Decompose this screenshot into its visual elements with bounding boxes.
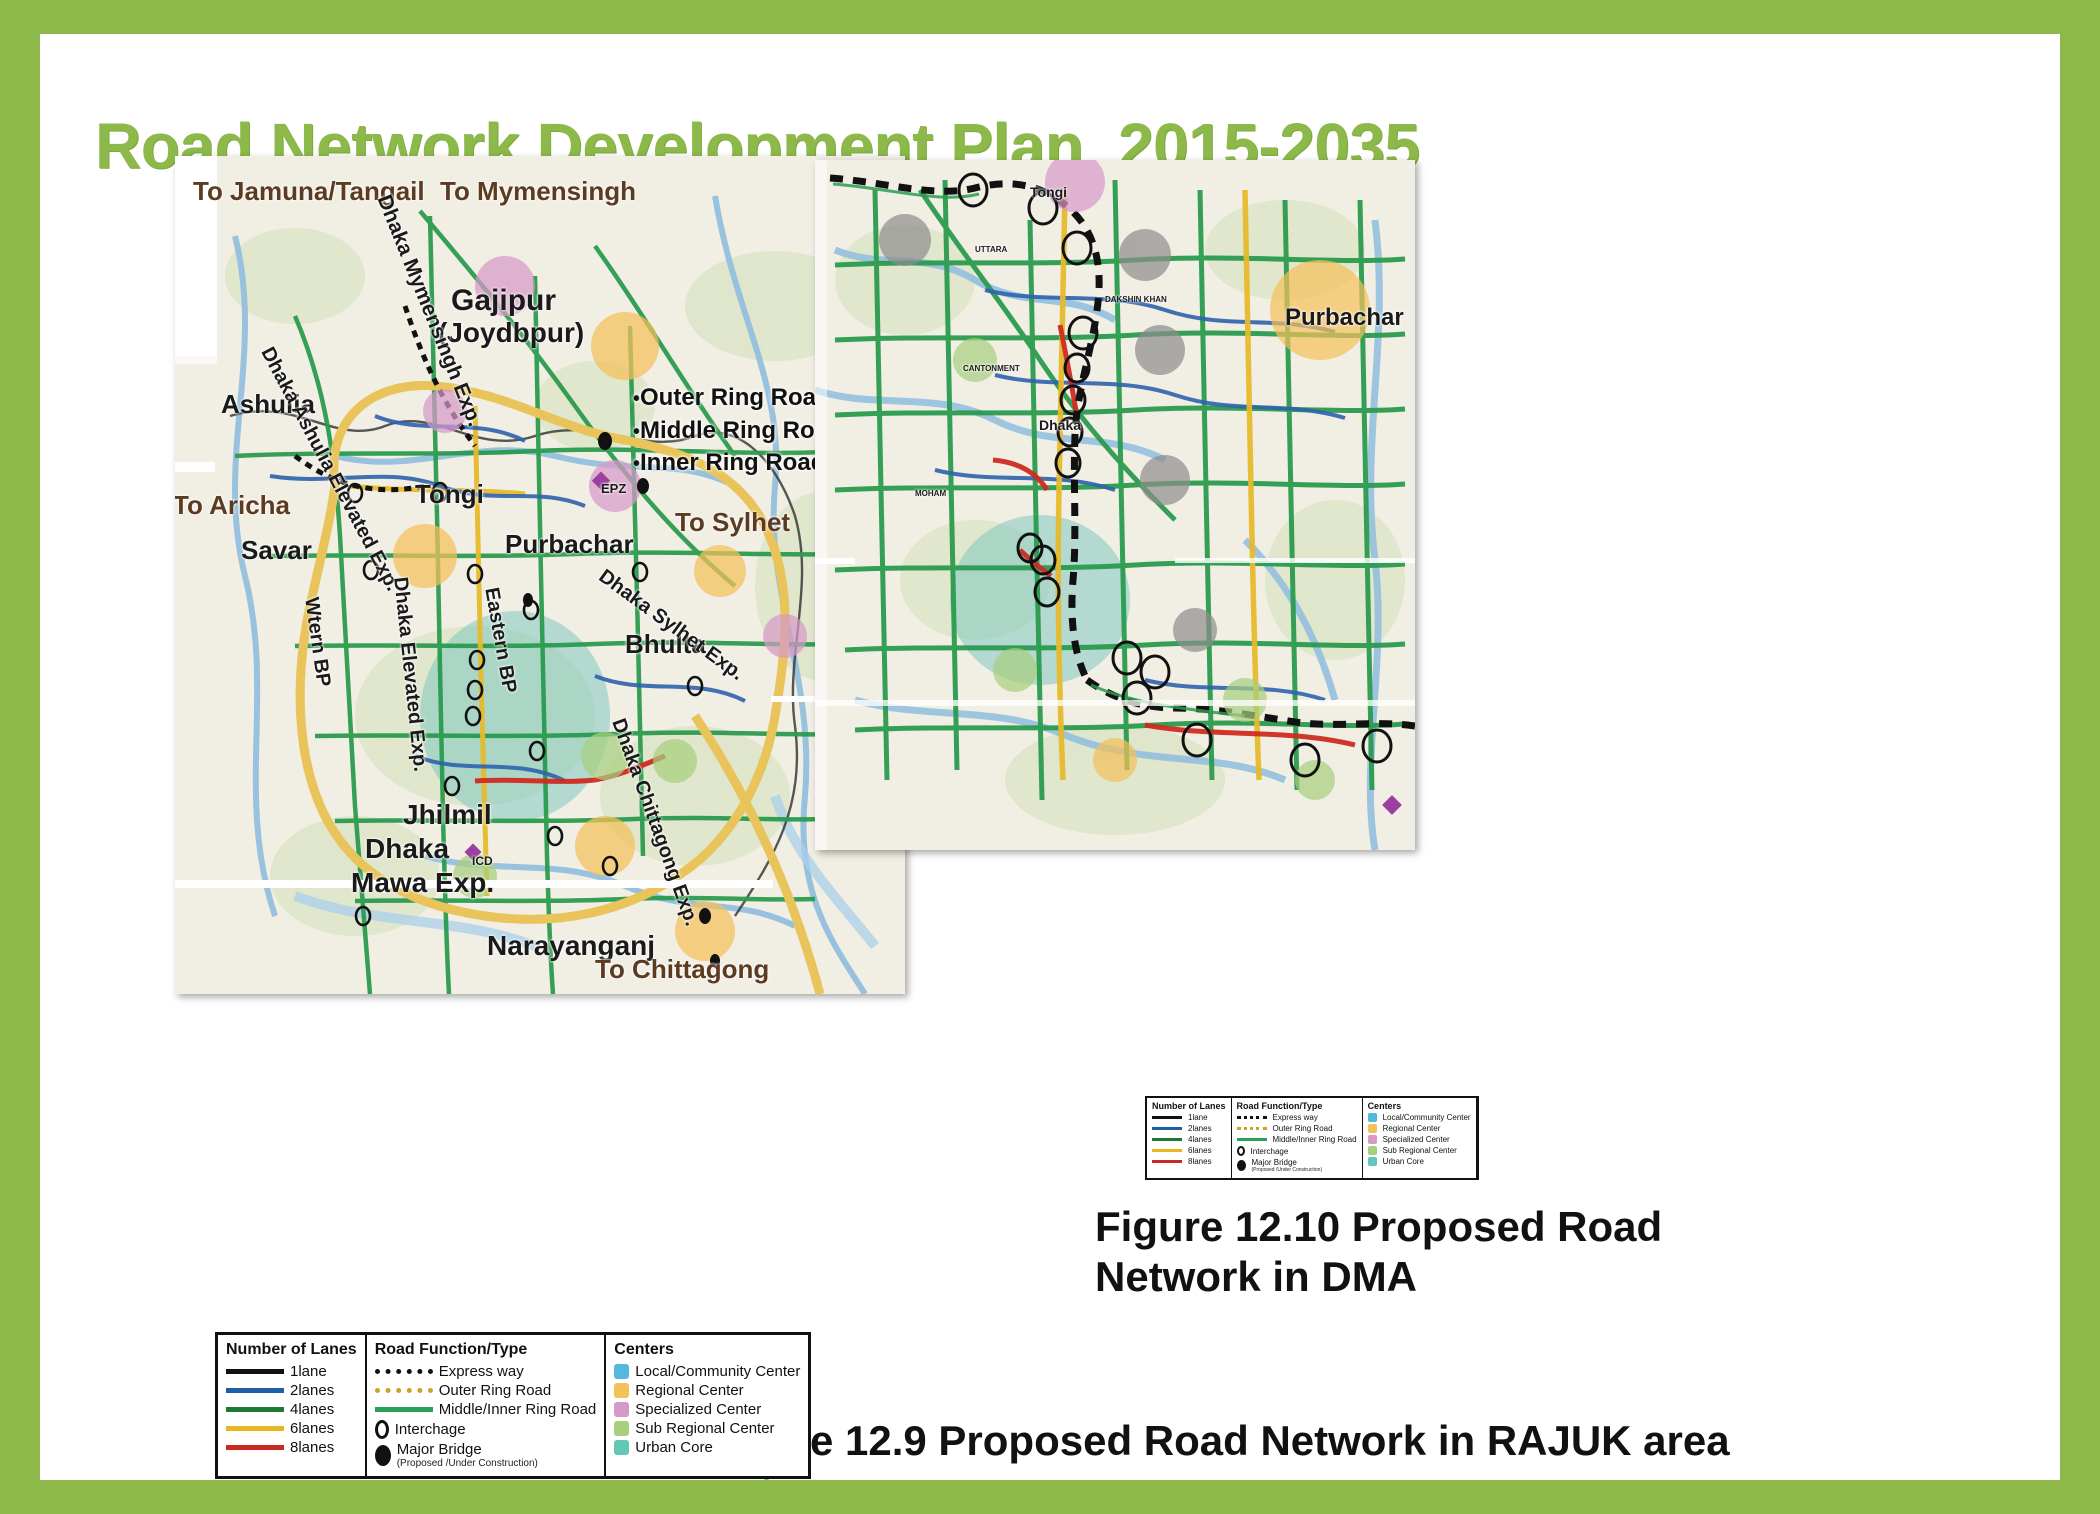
- legend-item: 4lanes: [1152, 1135, 1226, 1144]
- legend-item: 4lanes: [226, 1401, 357, 1418]
- legend-item-label: Major Bridge(Proposed /Under Constructio…: [1252, 1158, 1323, 1173]
- legend-item: 8lanes: [226, 1439, 357, 1456]
- legend-rajuk: Number of Lanes1lane2lanes4lanes6lanes8l…: [215, 1332, 811, 1479]
- legend-item: Interchage: [1237, 1146, 1357, 1156]
- interchange-icon: [375, 1420, 389, 1439]
- legend-line-swatch: [375, 1407, 433, 1412]
- legend-column-title: Road Function/Type: [1237, 1101, 1357, 1111]
- legend-line-swatch: [1152, 1127, 1182, 1130]
- legend-item: Sub Regional Center: [614, 1420, 800, 1437]
- legend-item: Regional Center: [614, 1382, 800, 1399]
- legend-color-box: [614, 1421, 629, 1436]
- legend-line-swatch: [1152, 1160, 1182, 1163]
- legend-item-label: Regional Center: [1383, 1124, 1441, 1133]
- major-bridge-icon: [375, 1445, 391, 1466]
- legend-item: 1lane: [1152, 1113, 1226, 1122]
- interchange-icon: [1237, 1146, 1245, 1156]
- scan-band: [815, 160, 827, 850]
- legend-item-label: Outer Ring Road: [439, 1382, 552, 1399]
- legend-item: 2lanes: [1152, 1124, 1226, 1133]
- legend-item: Urban Core: [614, 1439, 800, 1456]
- scan-band: [175, 356, 217, 364]
- legend-color-box: [614, 1402, 629, 1417]
- legend-item-label: 4lanes: [290, 1401, 334, 1418]
- legend-item: Middle/Inner Ring Road: [375, 1401, 597, 1418]
- legend-line-swatch: [1152, 1138, 1182, 1141]
- legend-item: Express way: [1237, 1113, 1357, 1122]
- legend-item: Interchage: [375, 1420, 597, 1439]
- legend-item: 8lanes: [1152, 1157, 1226, 1166]
- legend-item-label: 1lane: [290, 1363, 327, 1380]
- legend-line-swatch: [226, 1369, 284, 1374]
- legend-color-box: [614, 1383, 629, 1398]
- legend-item: 1lane: [226, 1363, 357, 1380]
- legend-dma: Number of Lanes1lane2lanes4lanes6lanes8l…: [1145, 1096, 1479, 1180]
- map-rajuk-graphic: [175, 156, 905, 994]
- legend-color-box: [614, 1440, 629, 1455]
- legend-item-label: 2lanes: [290, 1382, 334, 1399]
- legend-item-label: Major Bridge(Proposed /Under Constructio…: [397, 1441, 538, 1469]
- legend-item: Regional Center: [1368, 1124, 1471, 1133]
- legend-column-title: Number of Lanes: [1152, 1101, 1226, 1111]
- legend-line-swatch: [226, 1445, 284, 1450]
- legend-column-0: Number of Lanes1lane2lanes4lanes6lanes8l…: [1147, 1098, 1232, 1178]
- legend-item-label: Urban Core: [635, 1439, 713, 1456]
- legend-item-label: Express way: [439, 1363, 524, 1380]
- legend-item: Express way: [375, 1363, 597, 1380]
- legend-column-title: Road Function/Type: [375, 1341, 597, 1359]
- legend-item-label: Urban Core: [1383, 1157, 1424, 1166]
- legend-item-label: Middle/Inner Ring Road: [1273, 1135, 1357, 1144]
- legend-item-label: 6lanes: [290, 1420, 334, 1437]
- legend-column-2: CentersLocal/Community CenterRegional Ce…: [1363, 1098, 1477, 1178]
- legend-item: Sub Regional Center: [1368, 1146, 1471, 1155]
- legend-item: Urban Core: [1368, 1157, 1471, 1166]
- scan-band: [175, 880, 773, 888]
- legend-item-label: Express way: [1273, 1113, 1318, 1122]
- legend-item-label: Outer Ring Road: [1273, 1124, 1333, 1133]
- legend-item-label: Sub Regional Center: [1383, 1146, 1457, 1155]
- legend-column-2: CentersLocal/Community CenterRegional Ce…: [606, 1335, 808, 1476]
- legend-line-swatch: [226, 1426, 284, 1431]
- legend-item-sublabel: (Proposed /Under Construction): [397, 1458, 538, 1469]
- legend-item: Specialized Center: [614, 1401, 800, 1418]
- legend-item: 2lanes: [226, 1382, 357, 1399]
- legend-color-box: [1368, 1135, 1377, 1144]
- legend-item: 6lanes: [1152, 1146, 1226, 1155]
- legend-item-label: 1lane: [1188, 1113, 1208, 1122]
- legend-column-title: Centers: [614, 1341, 800, 1359]
- legend-item-label: Local/Community Center: [635, 1363, 800, 1380]
- legend-line-swatch: [1152, 1116, 1182, 1119]
- legend-item-label: 8lanes: [290, 1439, 334, 1456]
- legend-line-swatch: [1152, 1149, 1182, 1152]
- legend-item-label: Local/Community Center: [1383, 1113, 1471, 1122]
- legend-column-title: Centers: [1368, 1101, 1471, 1111]
- legend-column-1: Road Function/TypeExpress wayOuter Ring …: [1232, 1098, 1363, 1178]
- legend-item-label: Specialized Center: [635, 1401, 761, 1418]
- legend-item-label: Regional Center: [635, 1382, 743, 1399]
- scan-band: [815, 700, 1415, 706]
- legend-item: Middle/Inner Ring Road: [1237, 1135, 1357, 1144]
- caption-figure-12-10: Figure 12.10 Proposed Road Network in DM…: [1095, 1202, 1662, 1303]
- legend-item-sublabel: (Proposed /Under Construction): [1252, 1167, 1323, 1173]
- legend-item: Local/Community Center: [1368, 1113, 1471, 1122]
- legend-item-label: Middle/Inner Ring Road: [439, 1401, 597, 1418]
- legend-item-label: Specialized Center: [1383, 1135, 1450, 1144]
- legend-item: Local/Community Center: [614, 1363, 800, 1380]
- legend-column-title: Number of Lanes: [226, 1341, 357, 1359]
- legend-dotted-swatch: [1237, 1127, 1267, 1130]
- legend-item: Major Bridge(Proposed /Under Constructio…: [375, 1441, 597, 1469]
- legend-column-1: Road Function/TypeExpress wayOuter Ring …: [367, 1335, 607, 1476]
- map-rajuk-area[interactable]: To Jamuna/TangailTo MymensinghGajipur(Jo…: [175, 156, 905, 994]
- legend-color-box: [614, 1364, 629, 1379]
- legend-item-label: 6lanes: [1188, 1146, 1212, 1155]
- legend-column-0: Number of Lanes1lane2lanes4lanes6lanes8l…: [218, 1335, 367, 1476]
- legend-color-box: [1368, 1113, 1377, 1122]
- legend-item: 6lanes: [226, 1420, 357, 1437]
- legend-dotted-swatch: [375, 1369, 433, 1374]
- legend-item: Outer Ring Road: [375, 1382, 597, 1399]
- legend-color-box: [1368, 1146, 1377, 1155]
- legend-line-swatch: [226, 1407, 284, 1412]
- legend-item-label: 8lanes: [1188, 1157, 1212, 1166]
- legend-dotted-swatch: [375, 1388, 433, 1393]
- map-dma-graphic: [815, 160, 1415, 850]
- slide-canvas: Road Network Development Plan 2015-2035: [40, 34, 2060, 1480]
- major-bridge-icon: [1237, 1160, 1246, 1171]
- legend-color-box: [1368, 1124, 1377, 1133]
- legend-item-label: Interchage: [1251, 1147, 1289, 1156]
- legend-color-box: [1368, 1157, 1377, 1166]
- scan-band: [815, 558, 855, 564]
- legend-line-swatch: [226, 1388, 284, 1393]
- legend-item: Specialized Center: [1368, 1135, 1471, 1144]
- scan-band: [1175, 558, 1415, 563]
- legend-item: Major Bridge(Proposed /Under Constructio…: [1237, 1158, 1357, 1173]
- legend-item-label: 4lanes: [1188, 1135, 1212, 1144]
- scan-band: [175, 462, 215, 472]
- legend-item: Outer Ring Road: [1237, 1124, 1357, 1133]
- scan-band: [175, 156, 217, 356]
- legend-item-label: Interchage: [395, 1421, 466, 1438]
- legend-item-label: 2lanes: [1188, 1124, 1212, 1133]
- map-dma[interactable]: PurbacharTongiDhakaUTTARACANTONMENTDAKSH…: [815, 160, 1415, 850]
- legend-item-label: Sub Regional Center: [635, 1420, 774, 1437]
- legend-dotted-swatch: [1237, 1116, 1267, 1119]
- legend-line-swatch: [1237, 1138, 1267, 1141]
